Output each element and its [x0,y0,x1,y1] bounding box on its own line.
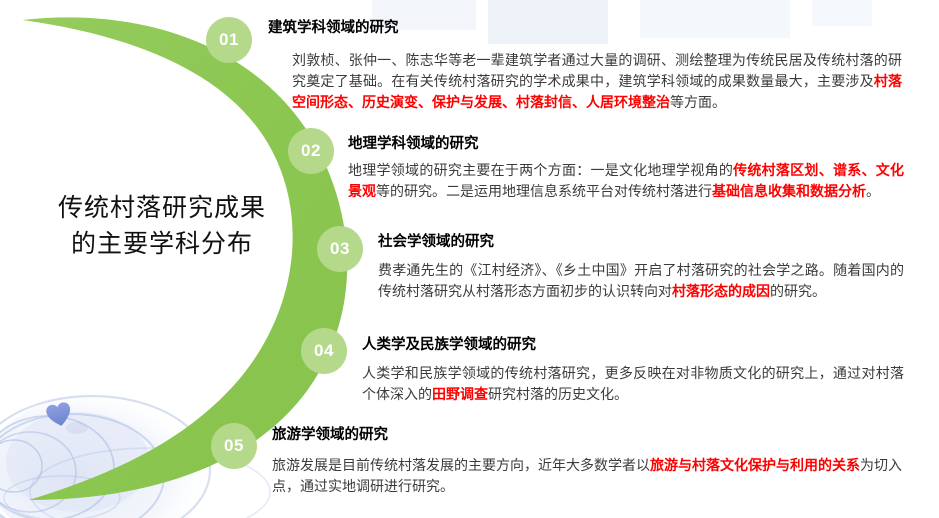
badge-03-number: 03 [330,239,350,259]
section-05-heading: 旅游学领域的研究 [272,426,388,444]
title-line-1: 传统村落研究成果 [24,190,300,226]
highlight-text: 旅游与村落文化保护与利用的关系 [650,457,860,473]
highlight-text: 村落形态的成因 [672,283,770,299]
badge-01-number: 01 [219,30,239,50]
faint-rect-far-right [812,0,872,26]
blue-heart-shape [45,401,73,428]
section-05-body: 旅游发展是目前传统村落发展的主要方向，近年大多数学者以旅游与村落文化保护与利用的… [272,455,902,497]
highlight-text: 基础信息收集和数据分析 [712,183,866,199]
section-03-body: 费孝通先生的《江村经济》、《乡土中国》开启了村落研究的社会学之路。随着国内的传统… [378,260,904,302]
badge-02-number: 02 [301,141,321,161]
badge-01[interactable]: 01 [206,17,252,63]
highlight-text: 田野调查 [432,386,488,402]
section-01-body: 刘敦桢、张仲一、陈志华等老一辈建筑学者通过大量的调研、测绘整理为传统民居及传统村… [292,50,902,113]
section-02-body: 地理学领域的研究主要在于两个方面：一是文化地理学视角的传统村落区划、谱系、文化景… [348,160,904,202]
badge-03[interactable]: 03 [317,226,363,272]
body-text: 等的研究。二是运用地理信息系统平台对传统村落进行 [376,183,712,199]
blue-glow-blob [0,392,225,518]
section-01-heading: 建筑学科领域的研究 [268,19,399,37]
page-title: 传统村落研究成果 的主要学科分布 [24,190,300,262]
faint-rect-right [640,0,790,38]
body-text: 。 [866,183,880,199]
body-text: 等方面。 [670,94,726,110]
section-03-heading: 社会学领域的研究 [378,233,494,251]
blue-heart-shadow [66,422,88,434]
section-04-body: 人类学和民族学领域的传统村落研究，更多反映在对非物质文化的研究上，通过对村落个体… [362,363,904,405]
badge-05-number: 05 [224,436,244,456]
body-text: 地理学领域的研究主要在于两个方面：一是文化地理学视角的 [348,162,733,178]
faint-rect-mid [488,0,608,44]
badge-04-number: 04 [314,341,334,361]
title-line-2: 的主要学科分布 [24,226,300,262]
body-text: 的研究。 [770,283,826,299]
badge-04[interactable]: 04 [301,328,347,374]
badge-02[interactable]: 02 [288,128,334,174]
body-text: 旅游发展是目前传统村落发展的主要方向，近年大多数学者以 [272,457,650,473]
section-02-heading: 地理学科领域的研究 [348,135,479,153]
body-text: 研究村落的历史文化。 [488,386,628,402]
body-text: 刘敦桢、张仲一、陈志华等老一辈建筑学者通过大量的调研、测绘整理为传统民居及传统村… [292,52,902,89]
section-04-heading: 人类学及民族学领域的研究 [362,336,536,354]
badge-05[interactable]: 05 [211,423,257,469]
slide-canvas: 传统村落研究成果 的主要学科分布 01 建筑学科领域的研究 刘敦桢、张仲一、陈志… [0,0,939,518]
